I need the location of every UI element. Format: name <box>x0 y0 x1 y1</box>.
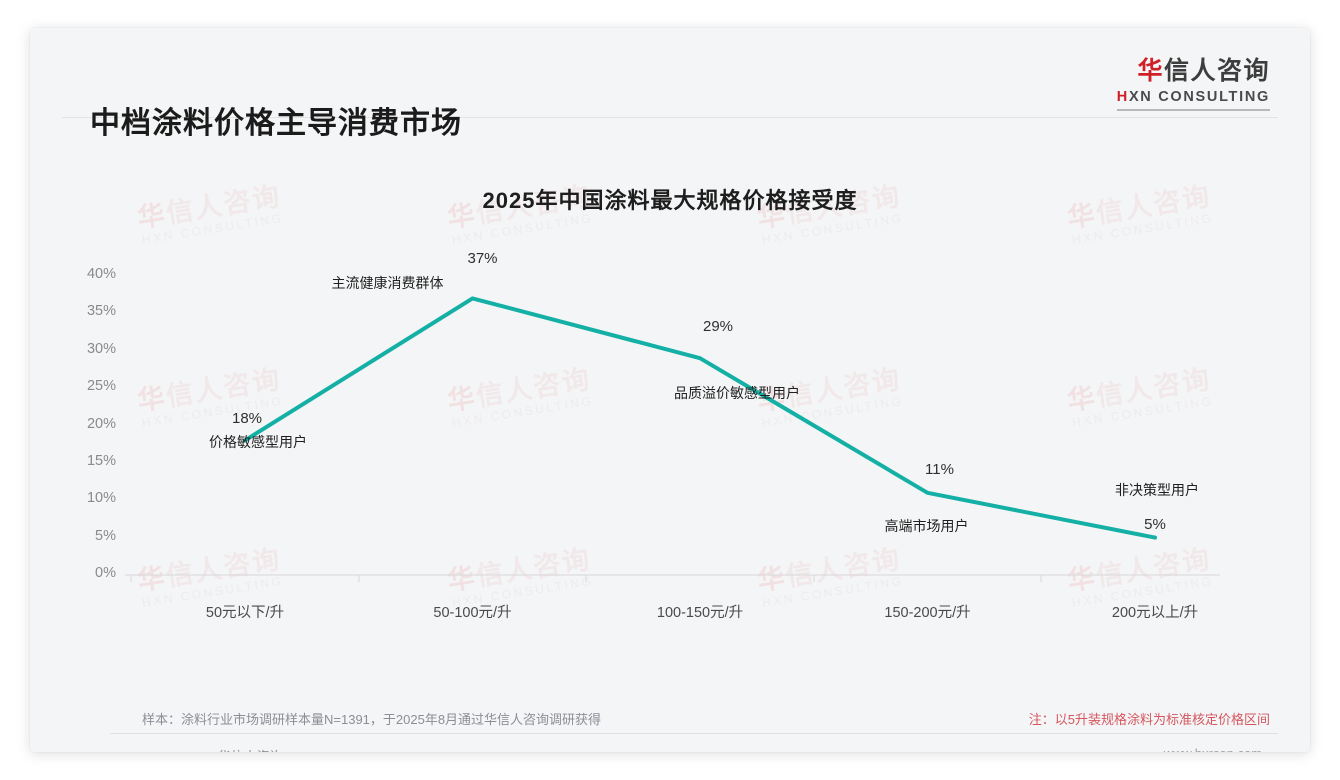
x-axis-tick-label: 150-200元/升 <box>884 601 970 622</box>
x-axis-tick-label: 100-150元/升 <box>657 601 743 622</box>
brand-logo-cn-rest: 信人咨询 <box>1164 57 1270 85</box>
brand-logo-underline <box>1117 109 1270 111</box>
data-point-value: 11% <box>925 461 954 478</box>
chart-title: 2025年中国涂料最大规格价格接受度 <box>30 183 1310 215</box>
data-point-annotation: 品质溢价敏感型用户 <box>674 383 800 403</box>
data-point-annotation: 非决策型用户 <box>1115 480 1199 500</box>
data-point-value: 29% <box>703 318 733 335</box>
data-point-value: 5% <box>1144 516 1166 533</box>
slide-header: 中档涂料价格主导消费市场 华信人咨询 HXN CONSULTING <box>30 28 1310 118</box>
data-point-value: 37% <box>467 250 497 267</box>
y-axis-tick-label: 15% <box>58 453 116 469</box>
x-axis-tick-label: 50-100元/升 <box>433 601 511 622</box>
footer-divider <box>110 733 1278 734</box>
y-axis-tick-label: 20% <box>58 416 116 432</box>
page-title: 中档涂料价格主导消费市场 <box>90 98 462 142</box>
brand-logo-cn: 华信人咨询 <box>1117 58 1270 86</box>
website-link[interactable]: www.hxrcon.com <box>1164 746 1262 752</box>
brand-logo: 华信人咨询 HXN CONSULTING <box>1117 58 1270 111</box>
brand-logo-en: HXN CONSULTING <box>1117 89 1270 105</box>
y-axis-tick-label: 35% <box>58 303 116 319</box>
y-axis-tick-label: 30% <box>58 341 116 357</box>
copyright-text: ©2025.10 HXR华信人咨询 <box>130 746 283 752</box>
x-axis-tick-label: 200元以上/升 <box>1112 601 1198 622</box>
y-axis-tick-label: 0% <box>58 565 116 581</box>
x-axis-tick-label: 50元以下/升 <box>206 601 284 622</box>
red-note: 注：以5升装规格涂料为标准核定价格区间 <box>1029 709 1270 728</box>
data-point-value: 18% <box>232 410 262 427</box>
series-line <box>245 298 1155 537</box>
slide-canvas: 华信人咨询HXN CONSULTING华信人咨询HXN CONSULTING华信… <box>30 28 1310 752</box>
data-point-annotation: 高端市场用户 <box>885 516 969 536</box>
y-axis-tick-label: 5% <box>58 528 116 544</box>
brand-logo-cn-red: 华 <box>1137 57 1164 85</box>
brand-logo-en-rest: XN CONSULTING <box>1129 89 1270 105</box>
data-point-annotation: 主流健康消费群体 <box>332 273 444 293</box>
y-axis-tick-label: 25% <box>58 378 116 394</box>
data-point-annotation: 价格敏感型用户 <box>209 432 307 452</box>
y-axis-tick-label: 40% <box>58 266 116 282</box>
brand-logo-en-red: H <box>1117 89 1129 105</box>
y-axis-tick-label: 10% <box>58 490 116 506</box>
sample-footnote: 样本：涂料行业市场调研样本量N=1391，于2025年8月通过华信人咨询调研获得 <box>142 709 601 728</box>
